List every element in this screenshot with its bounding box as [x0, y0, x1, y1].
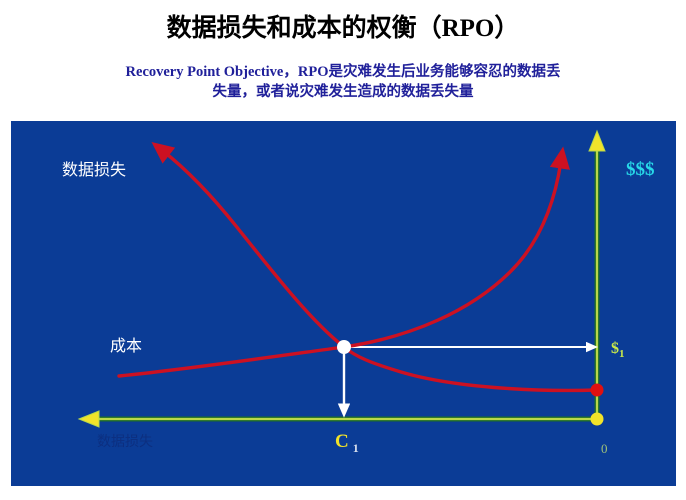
chart-panel: 数据损失 成本 数据损失 $$$ $1 C1 0 [11, 121, 676, 486]
cost-axis [589, 131, 605, 419]
origin-point-marker [591, 413, 604, 426]
s1-annotation-label: $1 [611, 340, 625, 360]
data-loss-curve-label: 数据损失 [62, 156, 126, 180]
arrow-left-icon [79, 411, 99, 427]
s1-subscript: 1 [619, 348, 625, 360]
page-title: 数据损失和成本的权衡（RPO） [0, 8, 686, 44]
s1-symbol: $ [611, 340, 619, 357]
c1-annotation-label: C1 [335, 431, 359, 456]
data-loss-curve [163, 151, 597, 390]
slide-subtitle: Recovery Point Objective，RPO是灾难发生后业务能够容忍… [120, 62, 566, 102]
cost-curve-label: 成本 [110, 332, 142, 356]
intersection-point-marker [337, 340, 351, 354]
y-axis-title: $$$ [626, 159, 655, 181]
cost-axis-point-marker [591, 384, 604, 397]
data-loss-axis [79, 411, 601, 427]
c1-subscript: 1 [353, 441, 359, 455]
x-axis-title: 数据损失 [97, 431, 153, 451]
arrow-up-icon [589, 131, 605, 151]
origin-label: 0 [601, 441, 608, 457]
c1-symbol: C [335, 431, 349, 452]
